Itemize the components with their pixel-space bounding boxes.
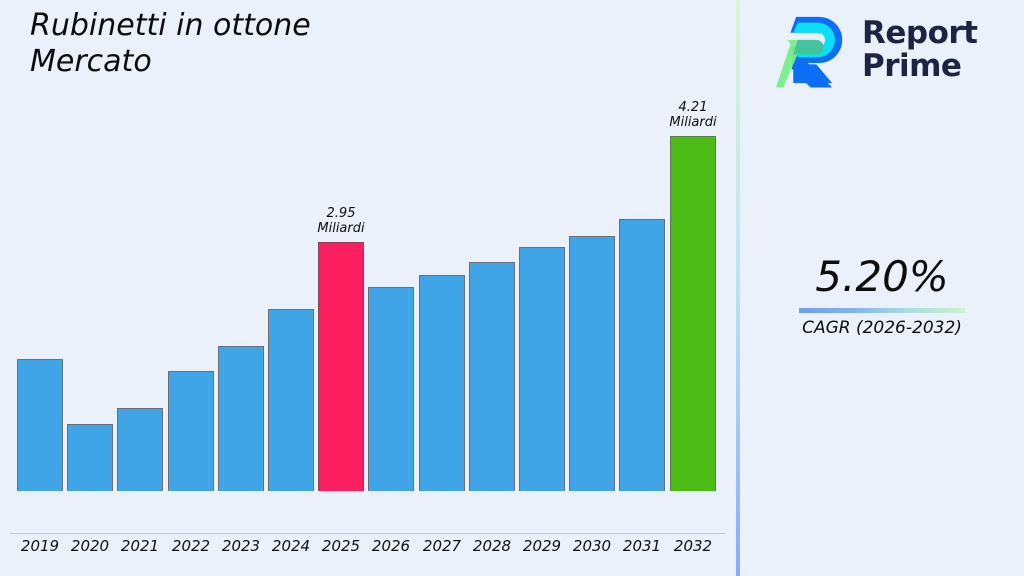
bar-2021[interactable] [117,408,163,491]
bar-value-label-2025: 2.95 Miliardi [300,206,382,236]
bar-2031[interactable] [619,219,665,491]
bar-2019[interactable] [17,359,63,491]
report-prime-r-logo-icon [776,12,848,88]
bar-2020[interactable] [67,424,113,491]
bar-2026[interactable] [368,287,414,491]
bar-chart-plot-area: 2.95 Miliardi4.21 Miliardi 2019202020212… [0,0,737,534]
bar-2030[interactable] [569,236,615,491]
x-tick-2032: 2032 [661,537,725,555]
bar-2022[interactable] [168,371,214,491]
chart-panel: Rubinetti in ottone Mercato 2.95 Miliard… [0,0,737,576]
cagr-caption: CAGR (2026-2032) [740,317,1024,339]
brand-logo: Report Prime [776,12,978,88]
cagr-divider [799,308,965,313]
bar-2024[interactable] [268,309,314,491]
x-axis-line [10,533,725,534]
cagr-block: 5.20% CAGR (2026-2032) [740,252,1024,339]
bar-2025[interactable] [318,242,364,491]
brand-panel: Report Prime 5.20% CAGR (2026-2032) [740,0,1024,576]
bar-2028[interactable] [469,262,515,491]
chart-slide: Rubinetti in ottone Mercato 2.95 Miliard… [0,0,1024,576]
bar-value-label-2032: 4.21 Miliardi [652,100,734,130]
cagr-value: 5.20% [740,252,1024,302]
bar-2027[interactable] [419,275,465,491]
brand-name: Report Prime [862,17,978,83]
bar-2032[interactable] [670,136,716,491]
bar-2023[interactable] [218,346,264,491]
bar-2029[interactable] [519,247,565,491]
